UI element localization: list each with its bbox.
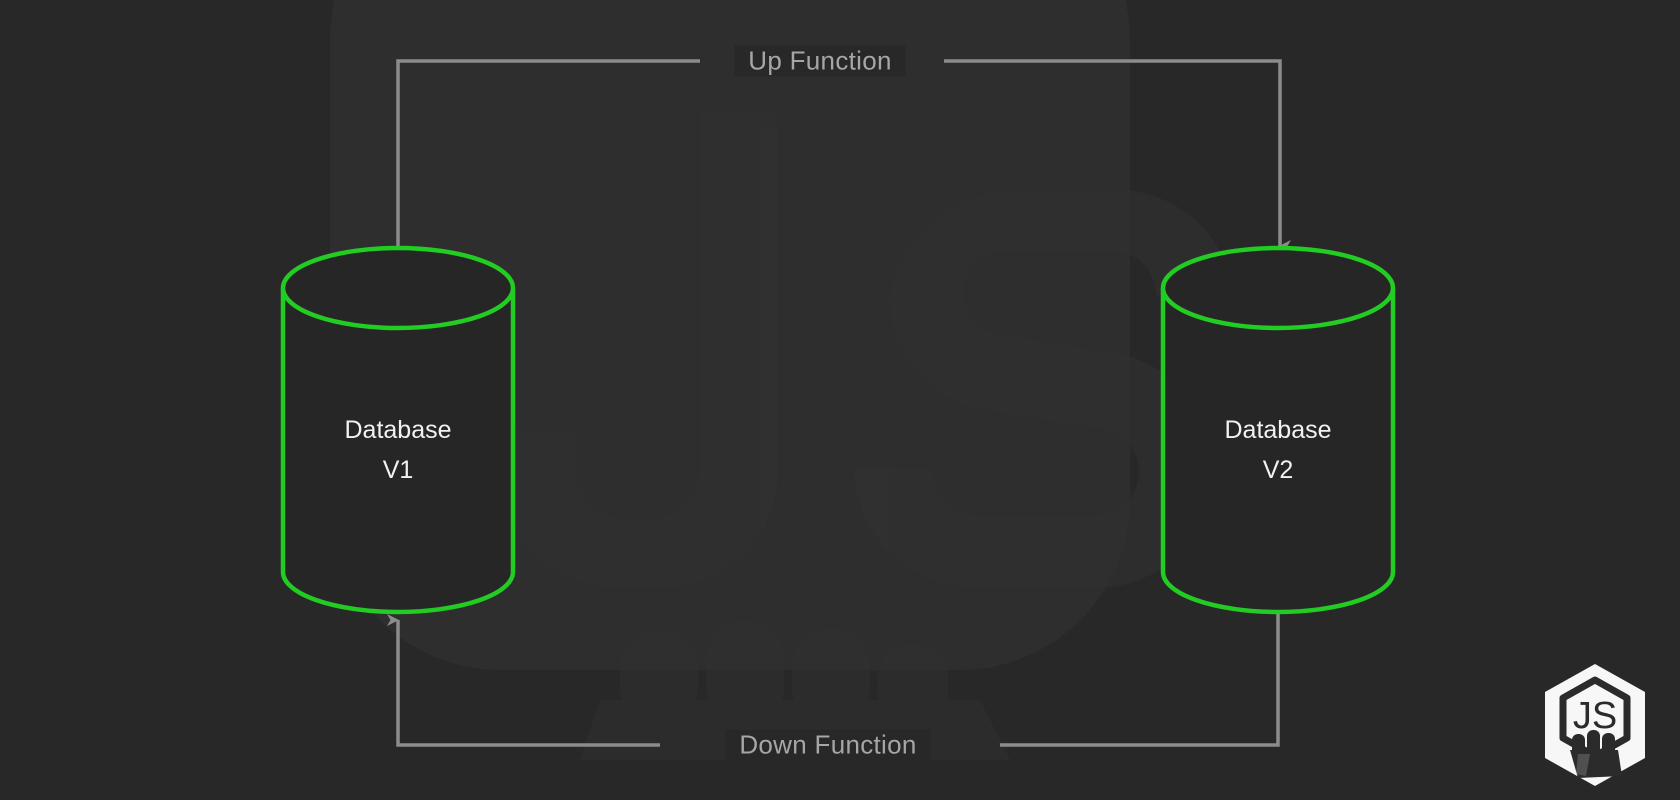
database-v1-body [283, 288, 513, 612]
edge-label-down-function: Down Function [725, 730, 930, 761]
edge-up-function[interactable] [398, 61, 1280, 265]
edge-down-function-left-segment [398, 620, 660, 745]
node-database-v1[interactable] [283, 248, 513, 612]
js-fist-logo: JS [1528, 658, 1662, 792]
edge-up-function-left-segment [398, 61, 700, 265]
edge-down-function[interactable] [398, 595, 1278, 745]
database-v1-top-ellipse [283, 248, 513, 328]
edge-label-up-function: Up Function [734, 46, 905, 77]
edge-up-function-right-segment [944, 61, 1280, 246]
logo-fist-mark [1570, 730, 1622, 778]
database-v2-body [1163, 288, 1393, 612]
diagram-shapes-layer [0, 0, 1680, 800]
edge-down-function-right-segment [1000, 595, 1278, 745]
diagram-canvas: Up Function Down Function Database V1 Da… [0, 0, 1680, 800]
database-v2-top-ellipse [1163, 248, 1393, 328]
node-database-v2[interactable] [1163, 248, 1393, 612]
